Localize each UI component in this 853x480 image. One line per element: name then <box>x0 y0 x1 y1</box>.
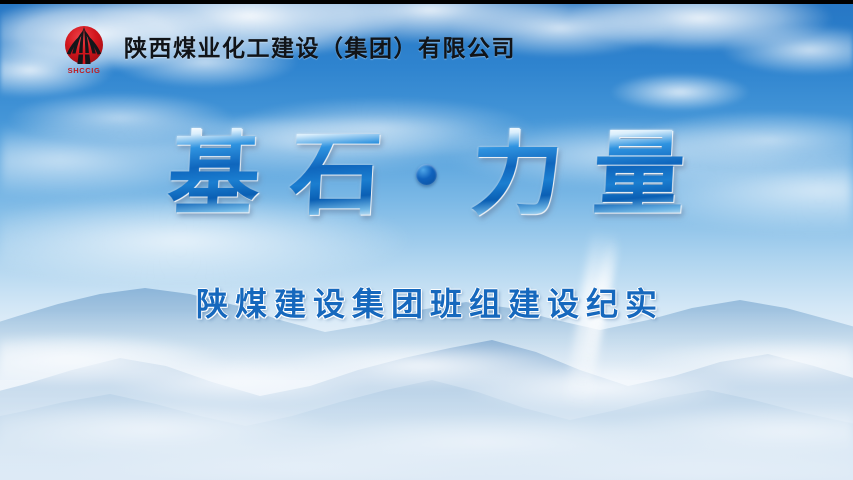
video-title-card: SHCCIG 陕西煤业化工建设（集团）有限公司 基 石 力 量 陕煤建设集团班组… <box>0 0 853 480</box>
dot-separator-icon <box>416 164 437 185</box>
main-title: 基 石 力 量 <box>168 128 685 220</box>
title-char-2: 石 <box>288 128 385 220</box>
subtitle: 陕煤建设集团班组建设纪实 <box>0 288 853 320</box>
logo-wordmark: SHCCIG <box>58 66 110 75</box>
company-name: 陕西煤业化工建设（集团）有限公司 <box>124 38 516 61</box>
title-char-4: 量 <box>591 128 688 220</box>
shccig-logo-icon: SHCCIG <box>58 24 110 74</box>
title-block: 基 石 力 量 <box>0 128 853 220</box>
bottom-haze-layer <box>0 310 853 480</box>
title-char-3: 力 <box>469 128 566 220</box>
title-char-1: 基 <box>166 128 263 220</box>
letterbox-bar-top <box>0 0 853 4</box>
brand-header: SHCCIG 陕西煤业化工建设（集团）有限公司 <box>58 24 516 74</box>
